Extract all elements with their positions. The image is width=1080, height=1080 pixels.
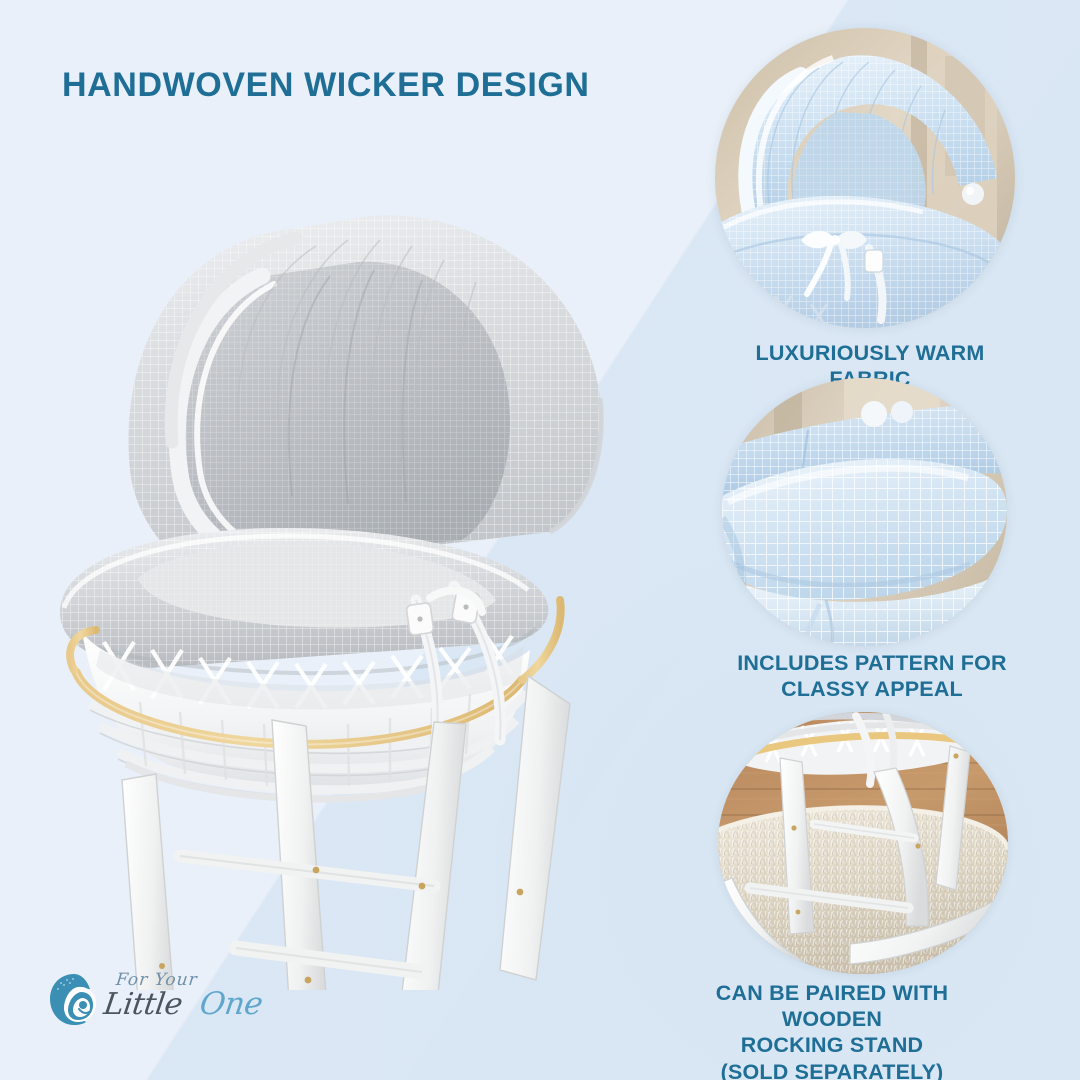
feature-3-caption-line-3: (SOLD SEPARATELY) [682,1059,982,1080]
feature-3-image [718,712,1008,974]
feature-2-caption-line-1: INCLUDES PATTERN FOR [722,650,1022,676]
logo-wordmark: For Your Little One [104,968,274,1030]
logo-little-text: Little [102,987,185,1022]
feature-3-caption-line-1: CAN BE PAIRED WITH WOODEN [682,980,982,1032]
logo-one-text: One [197,986,264,1022]
mother-and-baby-icon [48,972,100,1028]
feature-3-caption-line-2: ROCKING STAND [682,1032,982,1058]
page-title: HANDWOVEN WICKER DESIGN [62,66,590,105]
moses-basket-illustration [30,180,650,990]
feature-3-caption: CAN BE PAIRED WITH WOODEN ROCKING STAND … [682,980,982,1080]
basket-hood [129,215,602,572]
feature-3: CAN BE PAIRED WITH WOODEN ROCKING STAND … [718,712,1018,1032]
feature-2-image [722,378,1007,646]
feature-1-caption-line-1: LUXURIOUSLY WARM [715,340,1025,366]
feature-2: INCLUDES PATTERN FOR CLASSY APPEAL [722,378,1022,678]
feature-2-caption: INCLUDES PATTERN FOR CLASSY APPEAL [722,650,1022,702]
hero-product-image [30,180,650,990]
feature-1: LUXURIOUSLY WARM FABRIC [715,28,1025,328]
infographic-canvas: HANDWOVEN WICKER DESIGN [0,0,1080,1080]
for-your-little-one-logo[interactable]: For Your Little One [48,968,268,1036]
feature-1-image [715,28,1015,328]
feature-2-caption-line-2: CLASSY APPEAL [722,676,1022,702]
